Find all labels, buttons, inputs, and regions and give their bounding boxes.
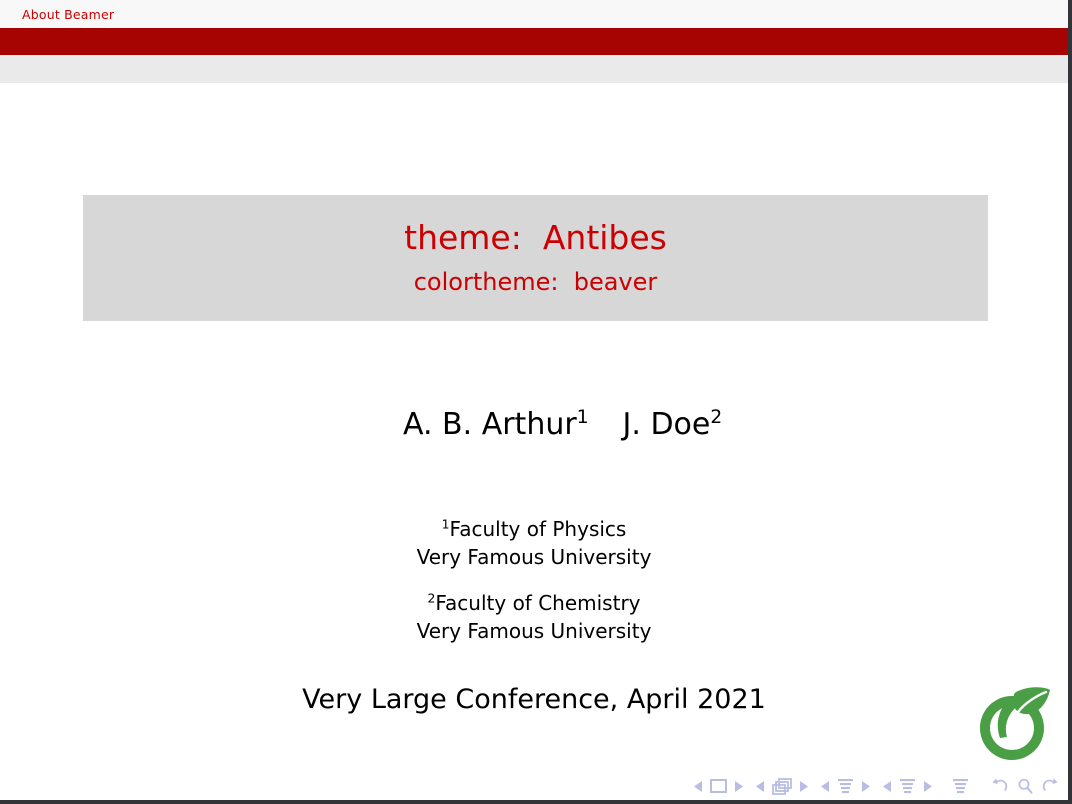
- author-1: A. B. Arthur1: [403, 407, 589, 442]
- institute-1-line1: 1Faculty of Physics: [0, 515, 1068, 543]
- next-section-triangle-icon[interactable]: [923, 781, 932, 792]
- next-subsection-triangle-icon[interactable]: [861, 781, 870, 792]
- section-bar[interactable]: [0, 28, 1068, 55]
- slide-square-icon[interactable]: [710, 779, 727, 793]
- navigation-bar[interactable]: [694, 774, 1058, 798]
- author-1-mark: 1: [577, 407, 589, 428]
- slide-header: About Beamer: [0, 0, 1068, 83]
- subsection-navigation-group[interactable]: [821, 778, 870, 795]
- prev-section-triangle-icon[interactable]: [883, 781, 892, 792]
- author-1-name: A. B. Arthur: [403, 407, 577, 442]
- search-icon[interactable]: [1017, 778, 1033, 794]
- author-2-name: J. Doe: [623, 407, 711, 442]
- institute-2-university: Very Famous University: [0, 617, 1068, 645]
- institute-2-faculty: Faculty of Chemistry: [435, 591, 640, 615]
- institute-1-mark: 1: [442, 516, 450, 531]
- page-title: theme: Antibes: [404, 219, 667, 257]
- subsection-bar[interactable]: About Beamer: [0, 0, 1068, 28]
- slide-navigation-group[interactable]: [694, 779, 743, 793]
- section-lines-icon[interactable]: [899, 778, 916, 795]
- document-lines-icon[interactable]: [952, 778, 969, 795]
- author-2: J. Doe2: [623, 407, 723, 442]
- subsection-label: About Beamer: [22, 7, 114, 22]
- institute-list: 1Faculty of Physics Very Famous Universi…: [0, 515, 1068, 646]
- page-subtitle: colortheme: beaver: [414, 269, 658, 297]
- subsection-lines-icon[interactable]: [837, 778, 854, 795]
- overleaf-logo: [970, 682, 1054, 766]
- institute-1-faculty: Faculty of Physics: [450, 517, 627, 541]
- header-accent-bar: [0, 55, 1068, 83]
- beamer-slide: About Beamer theme: Antibes colortheme: …: [0, 0, 1072, 804]
- document-navigation-group[interactable]: [952, 778, 969, 795]
- frames-stack-icon[interactable]: [772, 778, 792, 795]
- history-navigation-group[interactable]: [992, 778, 1058, 794]
- institute-1: 1Faculty of Physics Very Famous Universi…: [0, 515, 1068, 572]
- prev-slide-triangle-icon[interactable]: [694, 781, 703, 792]
- institute-2: 2Faculty of Chemistry Very Famous Univer…: [0, 589, 1068, 646]
- institute-1-university: Very Famous University: [0, 543, 1068, 571]
- author-2-mark: 2: [710, 407, 722, 428]
- prev-frame-triangle-icon[interactable]: [756, 781, 765, 792]
- title-block: theme: Antibes colortheme: beaver: [83, 195, 988, 321]
- conference-date: Very Large Conference, April 2021: [0, 684, 1068, 715]
- forward-arrow-icon[interactable]: [1042, 778, 1058, 794]
- section-navigation-group[interactable]: [883, 778, 932, 795]
- author-list: A. B. Arthur1J. Doe2: [0, 371, 1068, 479]
- prev-subsection-triangle-icon[interactable]: [821, 781, 830, 792]
- back-arrow-icon[interactable]: [992, 778, 1008, 794]
- next-frame-triangle-icon[interactable]: [799, 781, 808, 792]
- slide-body: A. B. Arthur1J. Doe2 1Faculty of Physics…: [0, 321, 1068, 715]
- next-slide-triangle-icon[interactable]: [734, 781, 743, 792]
- institute-2-line1: 2Faculty of Chemistry: [0, 589, 1068, 617]
- frame-navigation-group[interactable]: [756, 778, 808, 795]
